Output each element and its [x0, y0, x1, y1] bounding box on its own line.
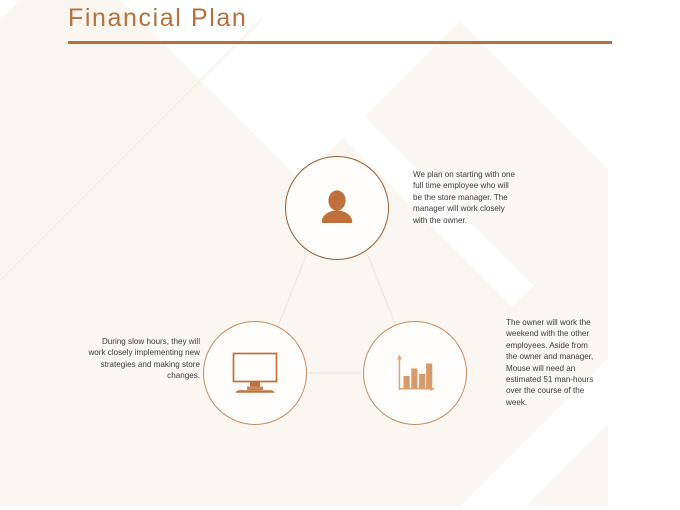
- node-right-circle[interactable]: [363, 321, 467, 425]
- node-left-circle[interactable]: [203, 321, 307, 425]
- node-top-circle[interactable]: [285, 156, 389, 260]
- node-top-text: We plan on starting with one full time e…: [413, 169, 519, 226]
- slide-canvas: Financial Plan: [0, 0, 680, 510]
- bar-chart-icon: [391, 349, 439, 397]
- node-left-text: During slow hours, they will work closel…: [84, 336, 200, 382]
- monitor-icon: [228, 350, 282, 396]
- node-right-text: The owner will work the weekend with the…: [506, 317, 598, 408]
- person-icon: [315, 186, 359, 230]
